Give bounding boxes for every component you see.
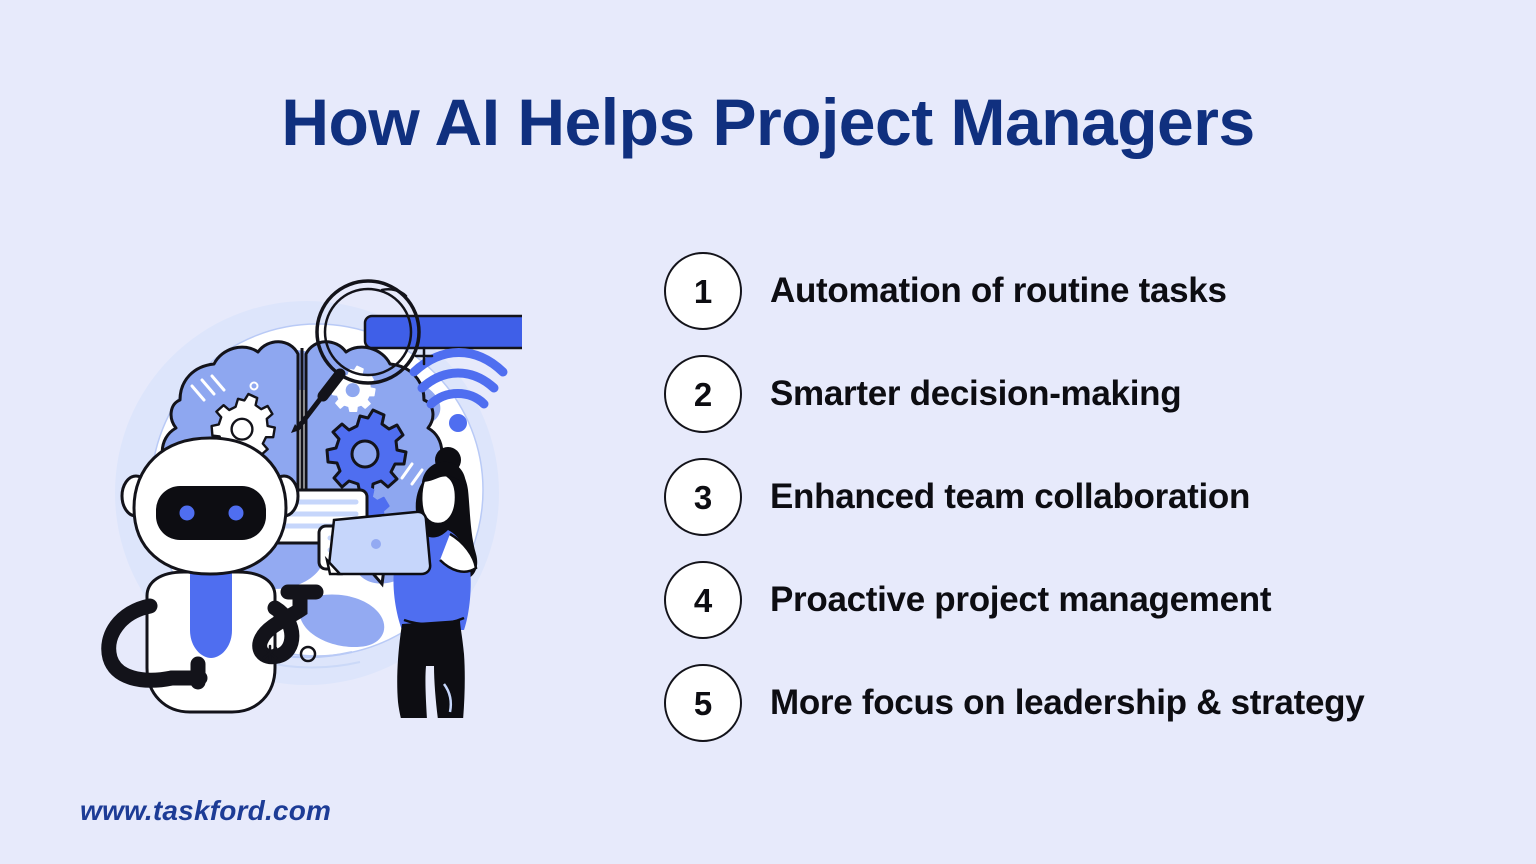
list-item-label: Proactive project management — [770, 580, 1271, 620]
list-item-label: Automation of routine tasks — [770, 271, 1227, 311]
page-title: How AI Helps Project Managers — [0, 88, 1536, 157]
list-item: 1 Automation of routine tasks — [664, 252, 1504, 330]
list-item-number: 1 — [664, 252, 742, 330]
list-item: 2 Smarter decision-making — [664, 355, 1504, 433]
benefits-list: 1 Automation of routine tasks 2 Smarter … — [664, 252, 1504, 742]
wifi-dot — [449, 414, 467, 432]
list-item-number: 3 — [664, 458, 742, 536]
list-item-label: Smarter decision-making — [770, 374, 1181, 414]
list-item-label: More focus on leadership & strategy — [770, 683, 1364, 723]
robot-eye — [180, 506, 195, 521]
ai-project-management-illustration — [72, 268, 522, 718]
search-bar-icon — [365, 316, 522, 348]
list-item-label: Enhanced team collaboration — [770, 477, 1250, 517]
list-item-number: 2 — [664, 355, 742, 433]
robot-eye — [229, 506, 244, 521]
list-item-number: 4 — [664, 561, 742, 639]
website-url[interactable]: www.taskford.com — [80, 795, 331, 827]
list-item: 3 Enhanced team collaboration — [664, 458, 1504, 536]
list-item-number: 5 — [664, 664, 742, 742]
list-item: 5 More focus on leadership & strategy — [664, 664, 1504, 742]
list-item: 4 Proactive project management — [664, 561, 1504, 639]
